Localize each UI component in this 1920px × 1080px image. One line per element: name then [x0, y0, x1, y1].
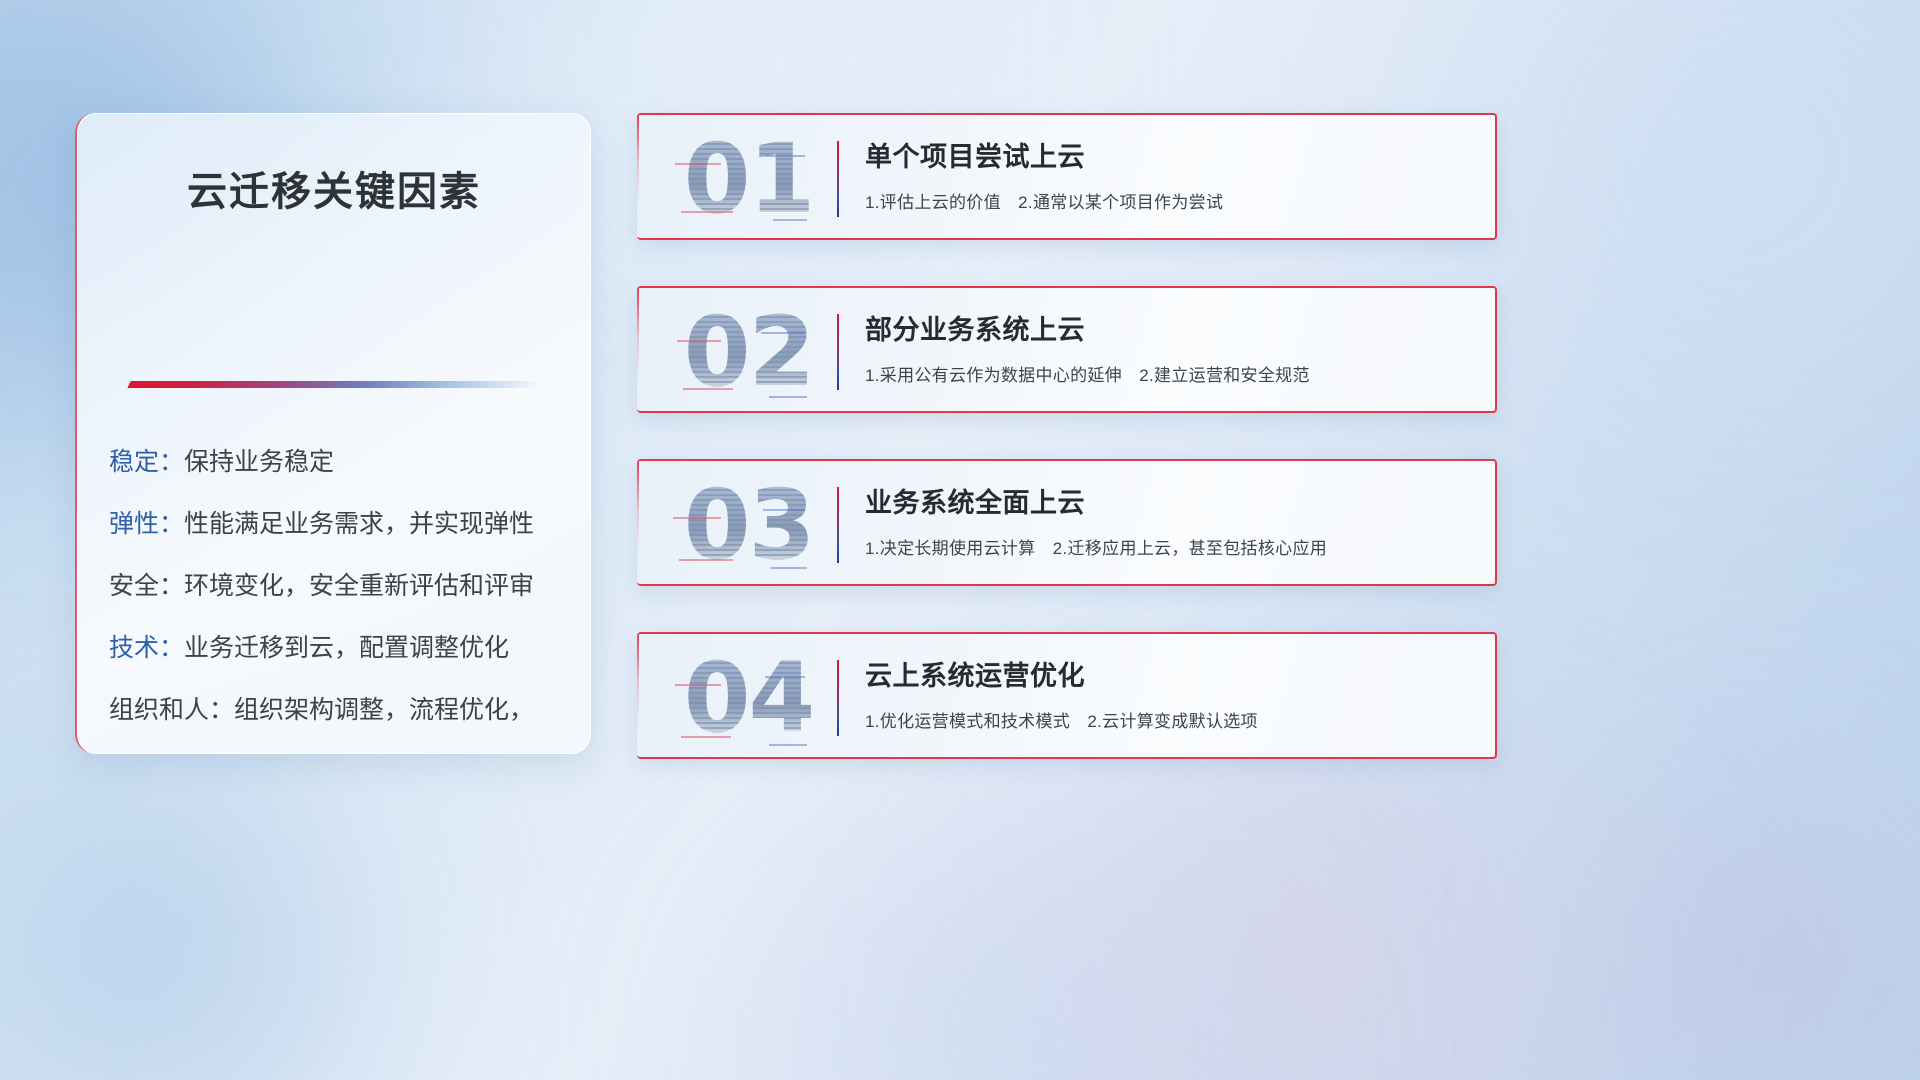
list-item: 技术：业务迁移到云，配置调整优化: [109, 617, 567, 679]
slide-stage: 云迁移关键因素 稳定：保持业务稳定 弹性：性能满足业务需求，并实现弹性 安全：环…: [0, 0, 1920, 1080]
tick-mark: [765, 676, 805, 678]
list-item: 弹性：性能满足业务需求，并实现弹性: [109, 493, 567, 555]
key-factors-panel: 云迁移关键因素 稳定：保持业务稳定 弹性：性能满足业务需求，并实现弹性 安全：环…: [75, 113, 591, 754]
list-item-text: 环境变化，安全重新评估和评审: [184, 572, 534, 600]
list-item: 稳定：保持业务稳定: [109, 431, 567, 493]
stage-cards-list: 01 单个项目尝试上云 1.评估上云的价值 2.通常以某个项目作为尝试 02: [637, 113, 1497, 805]
list-item: 人员技能培训: [109, 741, 567, 754]
tick-mark: [769, 744, 807, 746]
tick-mark: [769, 396, 807, 398]
tick-mark: [673, 517, 721, 519]
stage-card-desc: 1.评估上云的价值 2.通常以某个项目作为尝试: [865, 188, 1473, 213]
tick-mark: [679, 559, 733, 561]
stage-card-title: 部分业务系统上云: [865, 308, 1473, 347]
list-item-text: 性能满足业务需求，并实现弹性: [184, 510, 534, 538]
tick-mark: [763, 509, 805, 511]
stage-divider-01: [837, 141, 839, 217]
key-factors-list: 稳定：保持业务稳定 弹性：性能满足业务需求，并实现弹性 安全：环境变化，安全重新…: [109, 431, 567, 754]
list-item-label: 组织和人：: [109, 696, 234, 724]
stage-card-title: 云上系统运营优化: [865, 654, 1473, 693]
stage-card-title: 单个项目尝试上云: [865, 135, 1473, 174]
stage-card-03[interactable]: 03 业务系统全面上云 1.决定长期使用云计算 2.迁移应用上云，甚至包括核心应…: [637, 459, 1497, 586]
stage-card-title: 业务系统全面上云: [865, 481, 1473, 520]
tick-mark: [765, 155, 805, 157]
title-underline: [127, 381, 542, 388]
stage-number-ticks-03: [661, 469, 836, 581]
stage-card-04[interactable]: 04 云上系统运营优化 1.优化运营模式和技术模式 2.云计算变成默认选项: [637, 632, 1497, 759]
tick-mark: [675, 684, 721, 686]
tick-mark: [771, 567, 807, 569]
stage-number-ticks-04: [661, 642, 836, 754]
list-item-label: 稳定：: [109, 448, 184, 476]
stage-divider-04: [837, 660, 839, 736]
stage-card-02[interactable]: 02 部分业务系统上云 1.采用公有云作为数据中心的延伸 2.建立运营和安全规范: [637, 286, 1497, 413]
stage-card-desc: 1.采用公有云作为数据中心的延伸 2.建立运营和安全规范: [865, 361, 1473, 386]
list-item-text: 业务迁移到云，配置调整优化: [184, 634, 509, 662]
tick-mark: [761, 332, 805, 334]
tick-mark: [683, 388, 733, 390]
stage-card-body-02: 部分业务系统上云 1.采用公有云作为数据中心的延伸 2.建立运营和安全规范: [865, 308, 1473, 386]
tick-mark: [681, 736, 731, 738]
stage-card-01[interactable]: 01 单个项目尝试上云 1.评估上云的价值 2.通常以某个项目作为尝试: [637, 113, 1497, 240]
list-item-text: 保持业务稳定: [184, 448, 334, 476]
tick-mark: [677, 340, 721, 342]
stage-number-ticks-02: [661, 296, 836, 408]
list-item-label: 弹性：: [109, 510, 184, 538]
stage-card-desc: 1.决定长期使用云计算 2.迁移应用上云，甚至包括核心应用: [865, 534, 1473, 559]
stage-card-body-01: 单个项目尝试上云 1.评估上云的价值 2.通常以某个项目作为尝试: [865, 135, 1473, 213]
stage-card-body-04: 云上系统运营优化 1.优化运营模式和技术模式 2.云计算变成默认选项: [865, 654, 1473, 732]
tick-mark: [773, 219, 807, 221]
list-item-label: 技术：: [109, 634, 184, 662]
list-item-label: 安全：: [109, 572, 184, 600]
list-item-text: 组织架构调整，流程优化，: [234, 696, 534, 724]
tick-mark: [681, 211, 733, 213]
list-item: 组织和人：组织架构调整，流程优化，: [109, 679, 567, 741]
list-item: 安全：环境变化，安全重新评估和评审: [109, 555, 567, 617]
stage-divider-03: [837, 487, 839, 563]
stage-divider-02: [837, 314, 839, 390]
stage-card-body-03: 业务系统全面上云 1.决定长期使用云计算 2.迁移应用上云，甚至包括核心应用: [865, 481, 1473, 559]
stage-number-ticks-01: [661, 123, 836, 235]
tick-mark: [675, 163, 721, 165]
stage-card-desc: 1.优化运营模式和技术模式 2.云计算变成默认选项: [865, 707, 1473, 732]
